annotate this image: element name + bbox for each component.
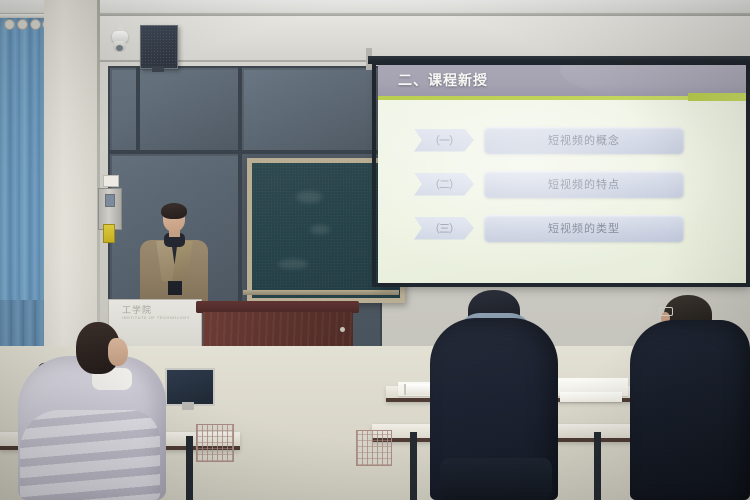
slide-accent-bar-right: [688, 93, 750, 101]
monitor-stand: [182, 402, 194, 410]
speaker-grill: [141, 26, 177, 68]
speaker-bracket: [152, 66, 164, 72]
jacket-quilting: [20, 410, 160, 500]
chalk-tray: [243, 290, 399, 295]
slide-row: （二） 短视频的特点: [414, 169, 684, 199]
hazard-label-icon: [103, 224, 115, 243]
desk-basket: [196, 424, 234, 462]
wall-pillar: [44, 0, 100, 360]
window-mullion: [136, 66, 140, 150]
chalk-smudge: [296, 191, 322, 203]
wall-sign: [103, 175, 119, 187]
window-pane: [112, 70, 238, 150]
lectern-knob[interactable]: [340, 327, 345, 332]
slide-row: （三） 短视频的类型: [414, 213, 684, 243]
slide-title: 二、课程新授: [398, 70, 488, 90]
desk-leg: [594, 432, 601, 500]
panel-window: [105, 194, 115, 207]
slide-row-marker: （三）: [414, 217, 474, 240]
window-pane: [244, 70, 374, 150]
curtain-grommet: [17, 19, 28, 30]
chalk-smudge: [310, 225, 330, 234]
student-face: [108, 338, 128, 366]
slide-row-pill: 短视频的类型: [484, 215, 684, 242]
slide: 二、课程新授 （一） 短视频的概念 （二） 短视频的特点 （三） 短视频的类型: [378, 63, 750, 285]
desk-basket: [356, 430, 392, 466]
classroom-photo: 二、课程新授 （一） 短视频的概念 （二） 短视频的特点 （三） 短视频的类型: [0, 0, 750, 500]
slide-row-pill: 短视频的概念: [484, 127, 684, 154]
podium-logo-subtext: INSTITUTE OF TECHNOLOGY: [122, 315, 190, 320]
window-mullion: [108, 150, 378, 154]
camera-glass: [116, 45, 123, 51]
slide-row-pill: 短视频的特点: [484, 171, 684, 198]
paper-sheet: [560, 392, 622, 402]
curtain-grommet: [30, 19, 41, 30]
desk-leg: [186, 436, 193, 500]
projection-screen: 二、课程新授 （一） 短视频的概念 （二） 短视频的特点 （三） 短视频的类型: [378, 63, 750, 285]
student-right: [630, 320, 750, 500]
lectern-monitor: [165, 368, 215, 406]
presenter-hair: [161, 203, 187, 219]
slide-row-marker: （一）: [414, 129, 474, 152]
pillar-edge: [97, 0, 100, 360]
slide-row-marker: （二）: [414, 173, 474, 196]
desk-leg: [410, 432, 417, 500]
curtain-grommet: [4, 19, 15, 30]
glasses-icon: [659, 307, 673, 316]
wall-speaker-icon: [140, 25, 178, 69]
slide-row: （一） 短视频的概念: [414, 125, 684, 155]
chair-back: [440, 458, 552, 500]
chalk-smudge: [278, 259, 308, 269]
